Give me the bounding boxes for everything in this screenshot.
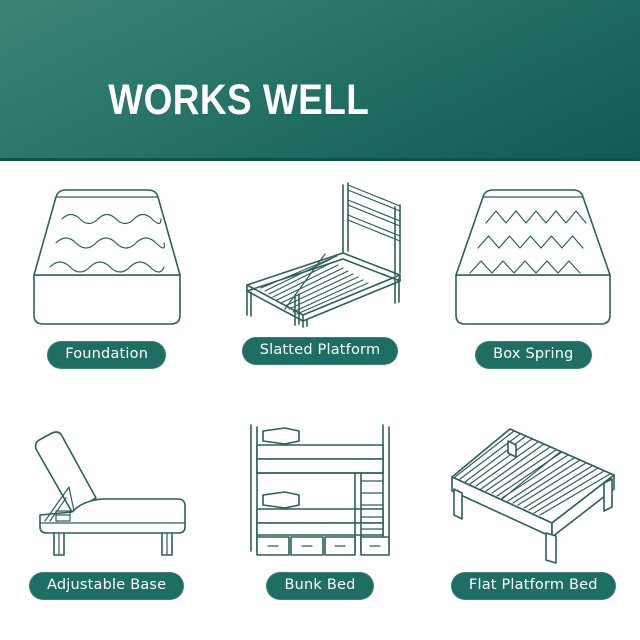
header-banner: WORKS WELL WITH THESE BASES [0,0,640,161]
box-spring-icon [438,175,628,335]
adjustable-base-icon [12,415,202,570]
base-card-adjustable-base[interactable]: Adjustable Base [0,401,213,640]
base-card-box-spring[interactable]: Box Spring [427,161,640,401]
base-card-flat-platform-bed[interactable]: Flat Platform Bed [427,401,640,640]
base-label-slatted-platform: Slatted Platform [242,337,399,365]
slatted-platform-bed-icon [225,175,415,335]
bases-grid: Foundation [0,161,640,640]
flat-platform-bed-icon [438,415,628,570]
page-title-line-1: WORKS WELL [108,76,369,124]
mattress-foundation-icon [12,175,202,335]
base-card-slatted-platform[interactable]: Slatted Platform [213,161,426,401]
base-label-bunk-bed: Bunk Bed [266,572,373,600]
base-card-bunk-bed[interactable]: Bunk Bed [213,401,426,640]
bunk-bed-icon [225,415,415,570]
base-label-box-spring: Box Spring [475,341,591,369]
page-title: WORKS WELL WITH THESE BASES [44,28,417,161]
infographic-page: WORKS WELL WITH THESE BASES Foundation [0,0,640,640]
base-card-foundation[interactable]: Foundation [0,161,213,401]
base-label-flat-platform-bed: Flat Platform Bed [451,572,616,600]
base-label-adjustable-base: Adjustable Base [29,572,184,600]
base-label-foundation: Foundation [47,341,166,369]
